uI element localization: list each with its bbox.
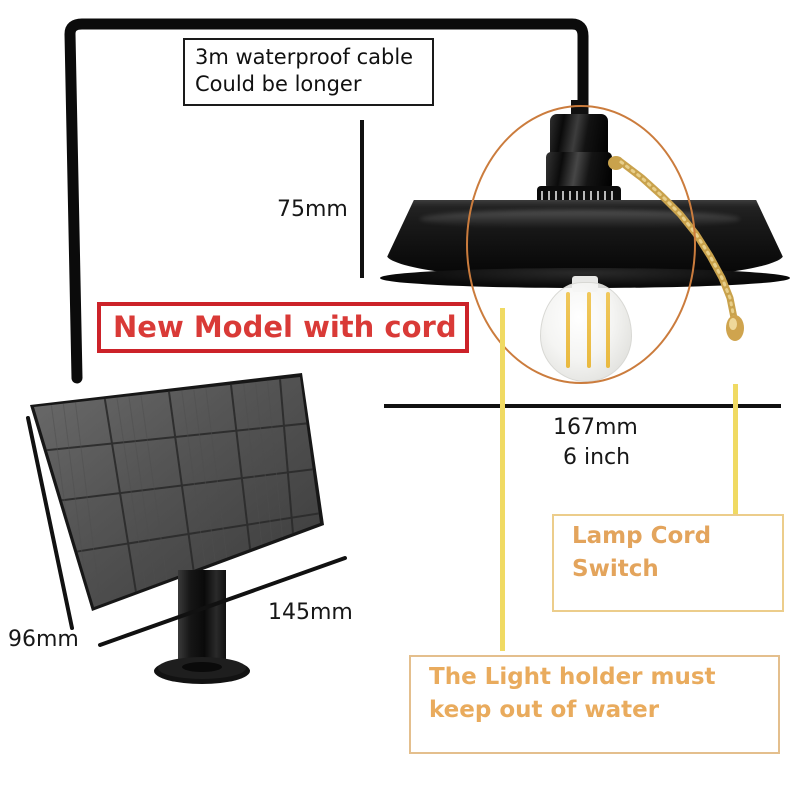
infographic-canvas: 3m waterproof cable Could be longer 75mm… [0, 0, 800, 800]
dimension-label-shade-diameter-mm: 167mm [553, 415, 638, 440]
leader-line-to-water-warning [500, 308, 505, 651]
dimension-label-panel-width: 145mm [268, 600, 353, 625]
callout-keep-out-of-water-line1: The Light holder must [429, 661, 760, 694]
dimension-rule-shade-height [360, 120, 364, 278]
callout-cable: 3m waterproof cable Could be longer [183, 38, 434, 106]
callout-keep-out-of-water: The Light holder must keep out of water [409, 655, 780, 754]
callout-cable-line1: 3m waterproof cable [195, 44, 422, 71]
dimension-label-panel-depth: 96mm [8, 627, 79, 652]
callout-lamp-cord-switch-line2: Switch [572, 553, 764, 586]
dimension-label-shade-height: 75mm [277, 197, 348, 222]
callout-lamp-cord-switch-line1: Lamp Cord [572, 520, 764, 553]
callout-lamp-cord-switch: Lamp Cord Switch [552, 514, 784, 612]
callout-cable-line2: Could be longer [195, 71, 422, 98]
leader-line-to-switch-callout [733, 384, 738, 514]
callout-keep-out-of-water-line2: keep out of water [429, 694, 760, 727]
dimension-label-shade-diameter-in: 6 inch [563, 445, 630, 470]
dimension-rule-shade-diameter [384, 404, 781, 408]
